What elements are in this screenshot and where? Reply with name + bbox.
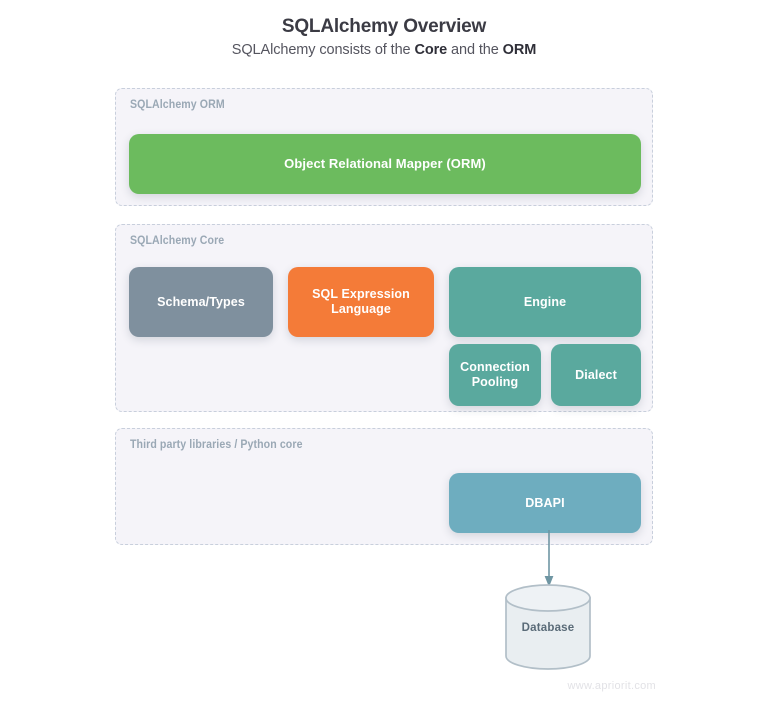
page-subtitle: SQLAlchemy consists of the Core and the …	[0, 42, 768, 58]
section-label-orm: SQLAlchemy ORM	[130, 99, 225, 111]
diagram-canvas: SQLAlchemy Overview SQLAlchemy consists …	[0, 0, 768, 710]
block-schema-types[interactable]: Schema/Types	[129, 267, 273, 337]
subtitle-prefix: SQLAlchemy consists of the	[232, 42, 415, 58]
section-label-third-party: Third party libraries / Python core	[130, 439, 303, 451]
dbapi-to-database-arrow-icon	[540, 530, 558, 588]
section-label-core: SQLAlchemy Core	[130, 235, 224, 247]
section-sqlalchemy-core: SQLAlchemy Core Schema/Types SQL Express…	[115, 224, 653, 412]
block-sql-expression-language[interactable]: SQL Expression Language	[288, 267, 434, 337]
subtitle-orm-emphasis: ORM	[503, 42, 537, 58]
block-connection-pooling[interactable]: Connection Pooling	[449, 344, 541, 406]
section-sqlalchemy-orm: SQLAlchemy ORM Object Relational Mapper …	[115, 88, 653, 206]
watermark: www.apriorit.com	[567, 680, 656, 692]
block-dbapi[interactable]: DBAPI	[449, 473, 641, 533]
database-label: Database	[503, 622, 593, 634]
block-object-relational-mapper[interactable]: Object Relational Mapper (ORM)	[129, 134, 641, 194]
subtitle-middle: and the	[447, 42, 503, 58]
subtitle-core-emphasis: Core	[414, 42, 447, 58]
page-title: SQLAlchemy Overview	[0, 16, 768, 38]
block-engine[interactable]: Engine	[449, 267, 641, 337]
block-dialect[interactable]: Dialect	[551, 344, 641, 406]
section-third-party-libraries: Third party libraries / Python core DBAP…	[115, 428, 653, 545]
